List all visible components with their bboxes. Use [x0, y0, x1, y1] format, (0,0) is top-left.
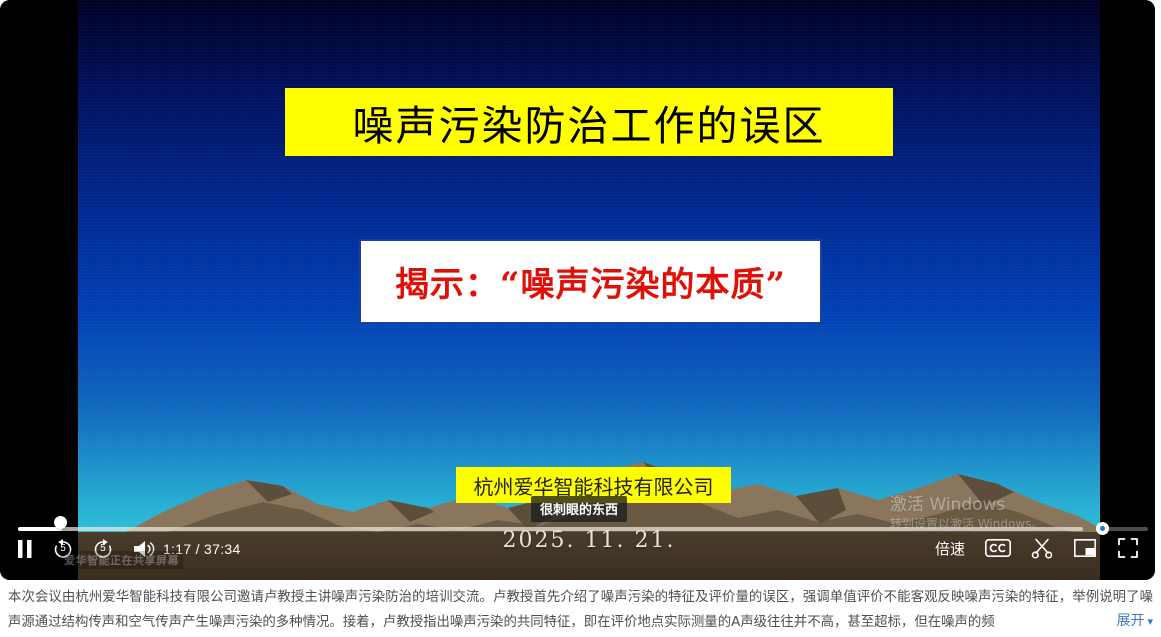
fullscreen-button[interactable] — [1117, 537, 1139, 559]
slide-title: 噪声污染防治工作的误区 — [353, 92, 826, 152]
seek-bar-handle[interactable] — [54, 516, 67, 529]
scissors-icon — [1031, 537, 1053, 559]
cc-subtitles-button[interactable] — [985, 539, 1011, 557]
video-frame[interactable]: 噪声污染防治工作的误区 揭示：“噪声污染的本质” 杭州爱华智能科技有限公司 很刺… — [78, 0, 1100, 580]
windows-watermark-title: 激活 Windows — [890, 494, 1043, 516]
picture-in-picture-button[interactable] — [1073, 538, 1097, 558]
volume-slider[interactable] — [1096, 525, 1148, 533]
video-description-text: 本次会议由杭州爱华智能科技有限公司邀请卢教授主讲噪声污染防治的培训交流。卢教授首… — [8, 585, 1153, 635]
slide-subtitle: 揭示：“噪声污染的本质” — [395, 257, 786, 306]
seek-bar[interactable] — [18, 527, 1083, 531]
slide-title-banner: 噪声污染防治工作的误区 — [285, 88, 893, 156]
playback-speed-button[interactable]: 倍速 — [935, 538, 965, 559]
pause-button[interactable] — [16, 539, 34, 559]
seek-bar-progress — [18, 527, 62, 531]
slide-subtitle-box: 揭示：“噪声污染的本质” — [359, 239, 822, 324]
cc-icon — [985, 539, 1011, 557]
expand-description-label: 展开 — [1116, 609, 1144, 634]
letterbox-right — [1100, 0, 1155, 580]
fullscreen-icon — [1117, 537, 1139, 559]
volume-slider-handle[interactable] — [1096, 522, 1109, 535]
screen-share-watermark: 爱华智能正在共享屏幕 — [60, 551, 183, 569]
letterbox-left — [0, 0, 78, 580]
expand-description-button[interactable]: 展开 ▾ — [1104, 609, 1153, 634]
player-control-bar[interactable]: 爱华智能正在共享屏幕 5 — [0, 520, 1155, 580]
chevron-down-icon: ▾ — [1147, 616, 1153, 627]
picture-in-picture-icon — [1073, 538, 1097, 558]
video-description: 本次会议由杭州爱华智能科技有限公司邀请卢教授主讲噪声污染防治的培训交流。卢教授首… — [0, 585, 1161, 637]
danmaku-comment: 很刺眼的东西 — [531, 496, 627, 522]
pause-icon — [16, 539, 34, 559]
video-player[interactable]: 噪声污染防治工作的误区 揭示：“噪声污染的本质” 杭州爱华智能科技有限公司 很刺… — [0, 0, 1155, 580]
clip-button[interactable] — [1031, 537, 1053, 559]
